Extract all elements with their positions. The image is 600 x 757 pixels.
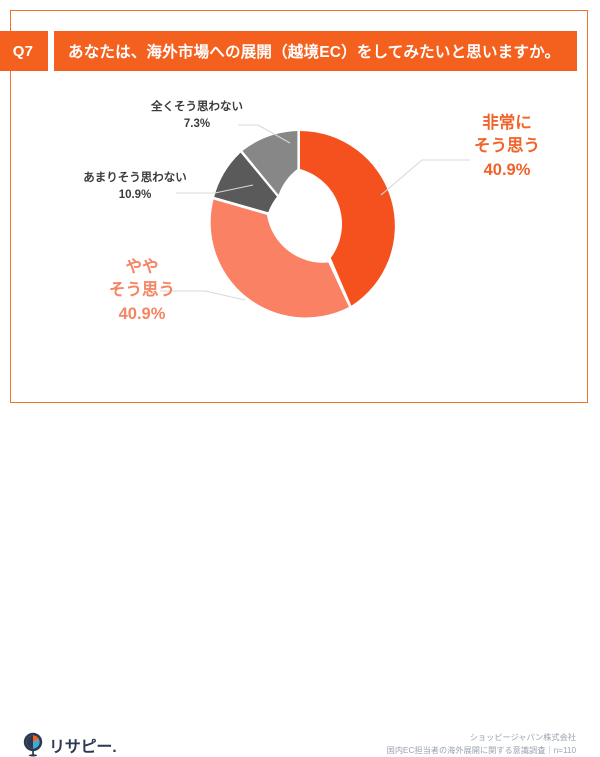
label-yaya-line1: やや [126, 258, 159, 276]
donut-chart-region: 非常に そう思う 40.9% やや そう思う 40.9% あまりそう思わない 1… [0, 0, 600, 415]
label-yaya-percent: 40.9% [62, 303, 222, 326]
pie-pin-icon [22, 732, 44, 757]
donut-segment-yaya[interactable] [211, 200, 349, 318]
label-mattaku-percent: 7.3% [122, 117, 272, 133]
brand-logo-text: リサピー. [49, 733, 116, 757]
label-hijyo-line1: 非常に [482, 114, 532, 132]
label-amari-text: あまりそう思わない [83, 172, 187, 184]
credit-company: ショッピージャパン株式会社 [387, 732, 576, 745]
label-yaya: やや そう思う 40.9% [62, 256, 222, 326]
label-mattaku-text: 全くそう思わない [151, 101, 243, 113]
footer: リサピー. ショッピージャパン株式会社 国内EC担当者の海外展開に関する意識調査… [0, 363, 600, 408]
survey-credit: ショッピージャパン株式会社 国内EC担当者の海外展開に関する意識調査｜n=110 [387, 732, 576, 757]
label-yaya-line2: そう思う [109, 281, 175, 299]
label-hijyo-percent: 40.9% [432, 159, 582, 182]
donut-chart [205, 131, 395, 321]
brand-logo: リサピー. [22, 732, 116, 757]
credit-survey: 国内EC担当者の海外展開に関する意識調査｜n=110 [387, 745, 576, 757]
label-hijyo: 非常に そう思う 40.9% [432, 112, 582, 182]
label-amari-percent: 10.9% [60, 188, 210, 204]
label-hijyo-line2: そう思う [474, 137, 540, 155]
label-amari: あまりそう思わない 10.9% [60, 171, 210, 204]
survey-slide: Q7 あなたは、海外市場への展開（越境EC）をしてみたいと思いますか。 非常に [0, 0, 600, 415]
label-mattaku: 全くそう思わない 7.3% [122, 100, 272, 133]
